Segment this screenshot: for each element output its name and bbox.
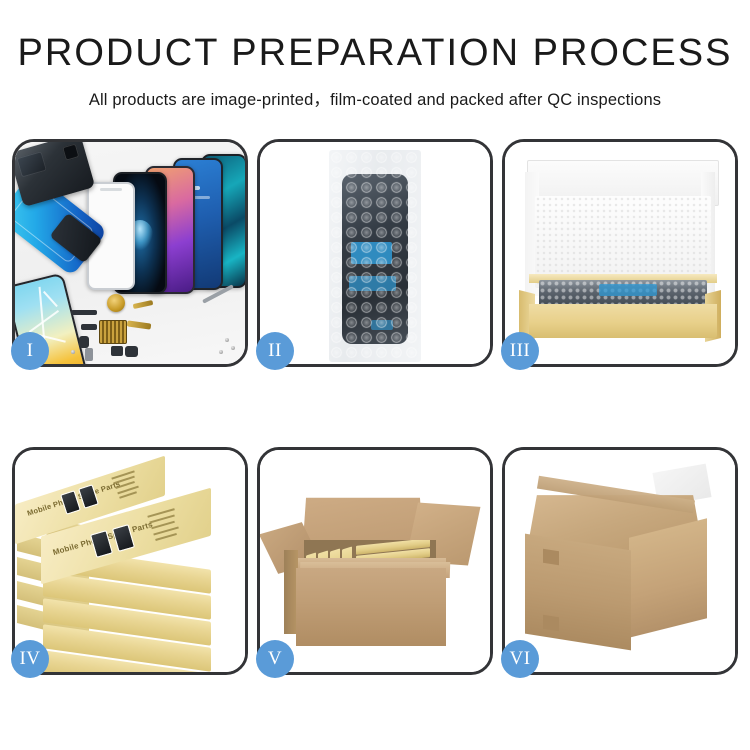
page-subtitle: All products are image-printed，film-coat… <box>0 86 750 110</box>
part-chip-array <box>99 320 127 344</box>
process-step-panel-2: II <box>257 139 493 367</box>
page-header: PRODUCT PREPARATION PROCESS All products… <box>0 0 750 110</box>
panel-4-image: Mobile Phone Spare Parts <box>15 450 245 672</box>
part-screw-3 <box>219 350 223 354</box>
step-badge-6: VI <box>501 640 539 678</box>
part-connector-strip <box>71 310 97 315</box>
part-screw-1 <box>225 338 229 342</box>
page-title: PRODUCT PREPARATION PROCESS <box>0 34 750 74</box>
process-step-panel-5: V <box>257 447 493 675</box>
panel-5-image <box>260 450 490 672</box>
step-badge-5: V <box>256 640 294 678</box>
carton-edge-tab-top <box>543 549 559 566</box>
panel-3-image <box>505 142 735 364</box>
bubble-wrapped-item-in-box <box>539 280 707 306</box>
process-step-grid: I II <box>12 139 738 675</box>
part-vibrator <box>79 336 89 348</box>
part-speaker-coil <box>107 294 125 312</box>
sealed-carton-front-face <box>525 534 631 651</box>
panel-1-image <box>15 142 245 364</box>
carton-edge-tab-bottom <box>543 615 559 632</box>
panel-2-image <box>260 142 490 364</box>
process-step-panel-4: Mobile Phone Spare Parts <box>12 447 248 675</box>
part-screw-2 <box>231 346 235 350</box>
step-badge-1: I <box>11 332 49 370</box>
panel-6-image <box>505 450 735 672</box>
part-screw-4 <box>71 350 75 354</box>
retail-box-stack: Mobile Phone Spare Parts <box>15 450 245 672</box>
process-step-panel-3: III <box>502 139 738 367</box>
step-badge-2: II <box>256 332 294 370</box>
part-sim-tray <box>85 348 93 361</box>
process-step-panel-6: VI <box>502 447 738 675</box>
part-earpiece <box>125 346 138 357</box>
process-step-panel-1: I <box>12 139 248 367</box>
sealed-carton-right-face <box>629 518 707 637</box>
box-front-panel <box>529 304 717 338</box>
part-camera-module <box>111 346 123 356</box>
step-badge-3: III <box>501 332 539 370</box>
bubble-wrap-sleeve <box>329 150 421 362</box>
part-button-bracket <box>81 324 97 330</box>
step-badge-4: IV <box>11 640 49 678</box>
carton-front-panel <box>296 568 446 646</box>
